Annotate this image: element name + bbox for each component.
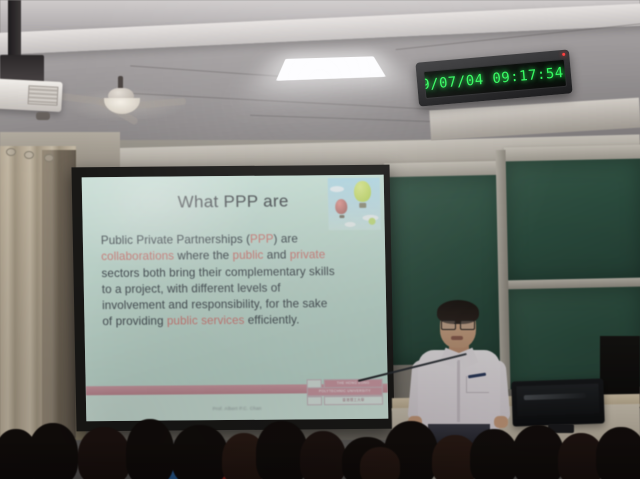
slide-plain-text: involvement and responsibility, for the …: [102, 297, 327, 312]
slide-highlight-text: PPP: [250, 233, 274, 246]
slide-highlight-text: public services: [167, 314, 245, 328]
shirt-pocket: [466, 376, 489, 393]
clock-datetime: 19/07/04 09:17:54: [423, 65, 564, 94]
audience-member-head: [28, 423, 78, 479]
curtain-ring: [44, 154, 54, 162]
slide-highlight-text: private: [290, 248, 326, 261]
logo-row: POLYTECHNIC UNIVERSITY: [307, 388, 383, 396]
audience-member-head: [126, 419, 174, 479]
audience-member-head: [172, 425, 228, 479]
balloon-basket: [339, 215, 344, 218]
slide-plain-text: to a project, with different levels of: [102, 281, 281, 296]
projector-mount: [8, 0, 21, 62]
slide-plain-text: Public Private Partnerships (: [101, 233, 250, 247]
audience-member-head: [512, 425, 564, 479]
projector-lens: [36, 112, 50, 120]
logo-text: POLYTECHNIC UNIVERSITY: [308, 388, 382, 396]
cloud-shape: [345, 222, 356, 227]
logo-text-chip: THE HONG KONG: [324, 378, 383, 388]
lecture-hall-photo: 19/07/04 09:17:54四 What PPP: [0, 0, 640, 479]
projection-screen: What PPP are Public Private Partnerships…: [71, 165, 394, 432]
logo-row: THE HONG KONG: [307, 379, 383, 387]
slide-body-text: Public Private Partnerships (PPP) arecol…: [101, 231, 371, 331]
clock-weekday: 四: [564, 62, 567, 82]
slide-plain-text: of providing: [102, 315, 167, 329]
presentation-slide: What PPP are Public Private Partnerships…: [82, 175, 389, 422]
slide-plain-text: efficiently.: [244, 314, 299, 327]
audience-member-head: [300, 431, 346, 479]
slide-title: What PPP are: [82, 191, 384, 214]
chalkboard-upper-right: [505, 159, 640, 284]
glasses-lens: [460, 320, 475, 330]
audience-member-head: [596, 427, 640, 479]
slide-plain-text: where the: [174, 249, 233, 263]
clock-display: 19/07/04 09:17:54四: [423, 59, 567, 99]
audience: [0, 399, 640, 479]
decor-dot: [368, 218, 375, 225]
projector-vent: [28, 85, 59, 106]
curtain-ring: [6, 148, 16, 156]
clock-indicator-led: [562, 53, 565, 56]
projection-surface: What PPP are Public Private Partnerships…: [82, 175, 389, 422]
glasses-lens: [441, 320, 456, 330]
slide-plain-text: ) are: [273, 232, 298, 245]
curtain-shadow-fold: [42, 150, 76, 438]
curtain-ring: [24, 151, 34, 159]
slide-highlight-text: public: [232, 249, 263, 262]
slide-highlight-text: collaborations: [101, 250, 174, 264]
slide-body-line: of providing public services efficiently…: [102, 312, 370, 331]
ceiling-light-panel: [276, 56, 386, 80]
slide-body-line: sectors both bring their complementary s…: [101, 263, 369, 282]
logo-text: THE HONG KONG: [325, 379, 382, 386]
slide-plain-text: and: [263, 249, 290, 262]
presenter-mouth: [451, 336, 463, 340]
glasses-icon: [441, 320, 475, 328]
slide-plain-text: sectors both bring their complementary s…: [101, 265, 335, 280]
audience-member-head: [360, 447, 400, 479]
audience-member-head: [470, 429, 518, 479]
audience-member-head: [78, 427, 130, 479]
